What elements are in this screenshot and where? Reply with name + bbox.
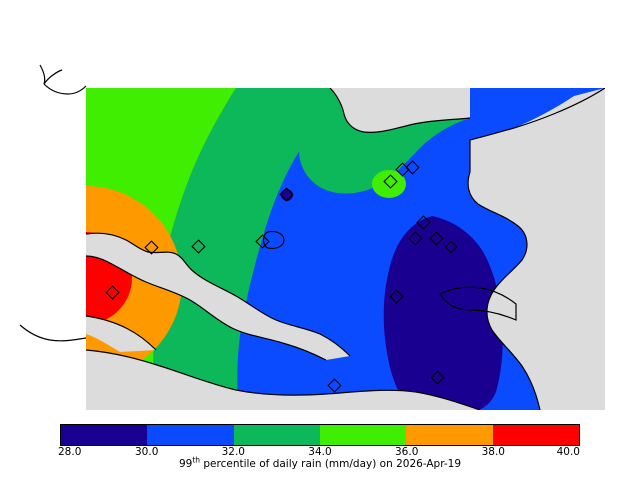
colorbar-band-32-34 <box>234 425 320 445</box>
map-stage <box>0 20 640 412</box>
colorbar <box>60 424 580 446</box>
colorbar-band-38-40 <box>493 425 579 445</box>
colorbar-tick-40: 40.0 <box>557 446 580 458</box>
caption-rest: percentile of daily rain (mm/day) on 202… <box>200 458 461 470</box>
colorbar-tick-36: 36.0 <box>395 446 418 458</box>
colorbar-bands <box>60 424 580 446</box>
colorbar-tick-38: 38.0 <box>482 446 505 458</box>
contour-layer <box>0 88 605 412</box>
colorbar-band-28-30 <box>61 425 147 445</box>
colorbar-tick-30: 30.0 <box>135 446 158 458</box>
caption-superscript: th <box>192 456 200 465</box>
weather-map-page: VictoriaWeather.ca -- Year Total Daily R… <box>0 0 640 480</box>
colorbar-band-34-36 <box>320 425 406 445</box>
rainfall-contour-map <box>0 20 640 412</box>
caption-prefix: 99 <box>179 458 192 470</box>
colorbar-band-30-32 <box>147 425 233 445</box>
colorbar-band-36-38 <box>406 425 492 445</box>
colorbar-caption: 99th percentile of daily rain (mm/day) o… <box>0 458 640 470</box>
colorbar-tick-28: 28.0 <box>58 446 81 458</box>
colorbar-tick-34: 34.0 <box>308 446 331 458</box>
colorbar-tick-32: 32.0 <box>222 446 245 458</box>
